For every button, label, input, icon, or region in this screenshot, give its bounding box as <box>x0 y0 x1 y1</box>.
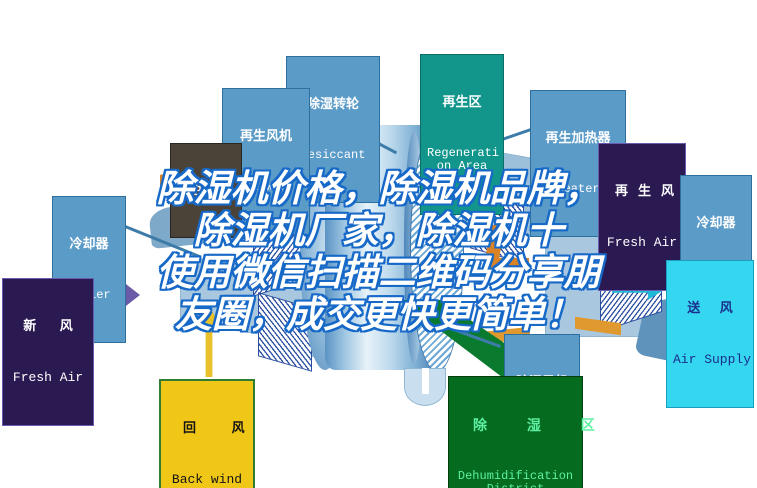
label-regeneration-area[interactable]: 再生区 Regenerati on Area <box>420 54 504 215</box>
label-dehumidification-district[interactable]: 除 湿 区 Dehumidification District <box>448 376 583 488</box>
label-fresh-air-cn: 新 风 <box>9 319 87 334</box>
label-regen-air-in-cn: 再生风进 <box>605 184 679 199</box>
label-dehumidification-district-cn: 除 湿 区 <box>455 417 576 433</box>
label-regen-air-out[interactable]: 再生风出 <box>170 143 242 238</box>
label-fresh-air[interactable]: 新 风 Fresh Air <box>2 278 94 426</box>
diagram-canvas: 除湿转轮 Desiccant 再生风机 Blower 再生区 Regenerat… <box>0 0 757 488</box>
label-cooler-left-cn: 冷却器 <box>59 237 119 252</box>
label-back-wind-en: Back wind <box>167 473 247 488</box>
label-back-wind-cn: 回 风 <box>167 421 247 436</box>
label-dehumidification-district-en: Dehumidification District <box>455 470 576 488</box>
label-fresh-air-en: Fresh Air <box>9 371 87 386</box>
label-regeneration-area-cn: 再生区 <box>427 95 497 110</box>
label-regen-blower-cn: 再生风机 <box>229 129 303 144</box>
label-back-wind[interactable]: 回 风 Back wind <box>159 379 255 488</box>
airflow-elbow-b <box>487 258 529 272</box>
condensate-drain <box>404 368 446 406</box>
label-air-supply-cn: 送 风 <box>673 301 747 316</box>
label-regen-air-out-cn: 再生风出 <box>177 184 235 198</box>
label-regeneration-area-en: Regenerati on Area <box>427 147 497 175</box>
label-air-supply[interactable]: 送 风 Air Supply <box>666 260 754 408</box>
label-regen-air-in-en: Fresh Air <box>605 236 679 251</box>
label-cooler-right-cn: 冷却器 <box>687 216 745 231</box>
label-air-supply-en: Air Supply <box>673 353 747 368</box>
